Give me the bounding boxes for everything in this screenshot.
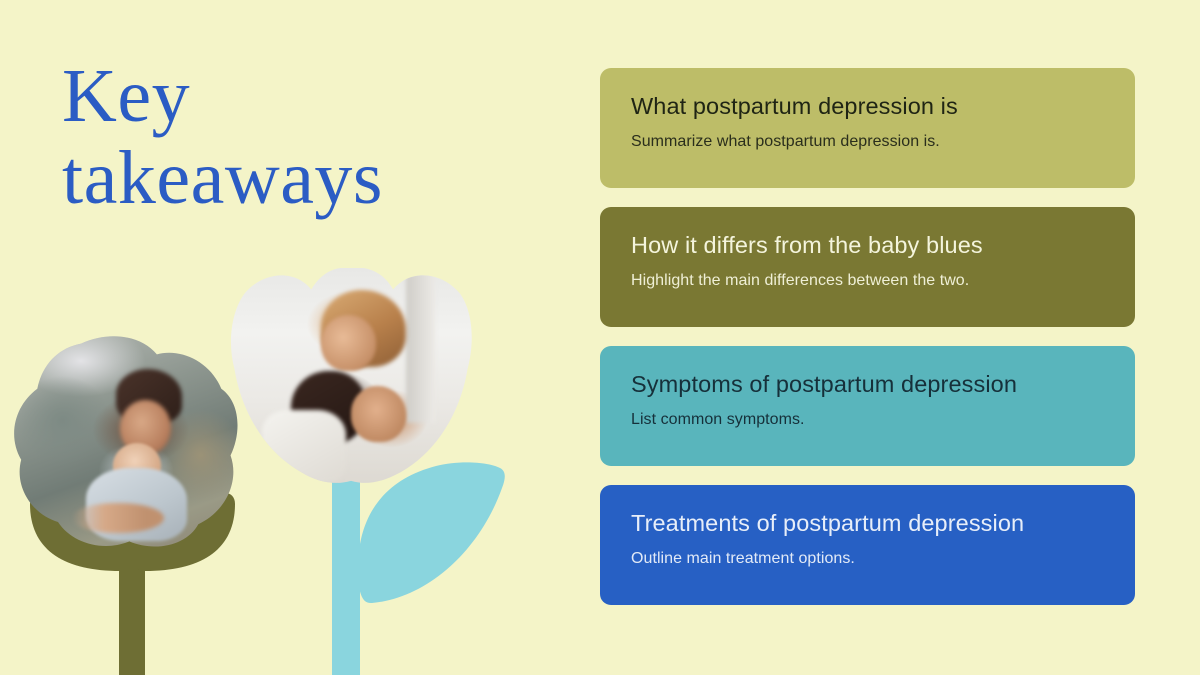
takeaway-card-2[interactable]: How it differs from the baby blues Highl… [600,207,1135,327]
takeaway-card-1-title: What postpartum depression is [631,92,1104,120]
cyan-flower-photo [227,268,475,483]
decorative-flower-cyan [222,268,522,675]
takeaway-card-1-description: Summarize what postpartum depression is. [631,132,1104,152]
takeaway-card-1[interactable]: What postpartum depression is Summarize … [600,68,1135,188]
olive-flower-photo [12,335,242,550]
photo-mother-and-baby [12,335,242,550]
takeaway-card-4-description: Outline main treatment options. [631,549,1104,569]
takeaway-card-2-title: How it differs from the baby blues [631,231,1104,259]
takeaways-list: What postpartum depression is Summarize … [600,68,1135,605]
takeaway-card-3-title: Symptoms of postpartum depression [631,370,1104,398]
takeaway-card-3-description: List common symptoms. [631,410,1104,430]
takeaway-card-2-description: Highlight the main differences between t… [631,271,1104,291]
photo-two-women-embracing [227,268,475,483]
takeaway-card-3[interactable]: Symptoms of postpartum depression List c… [600,346,1135,466]
page-title: Key takeaways [62,55,532,219]
slide-canvas: Key takeaways [0,0,1200,675]
takeaway-card-4[interactable]: Treatments of postpartum depression Outl… [600,485,1135,605]
title-line-1: Key [62,55,532,137]
takeaway-card-4-title: Treatments of postpartum depression [631,509,1104,537]
title-line-2: takeaways [62,137,532,219]
